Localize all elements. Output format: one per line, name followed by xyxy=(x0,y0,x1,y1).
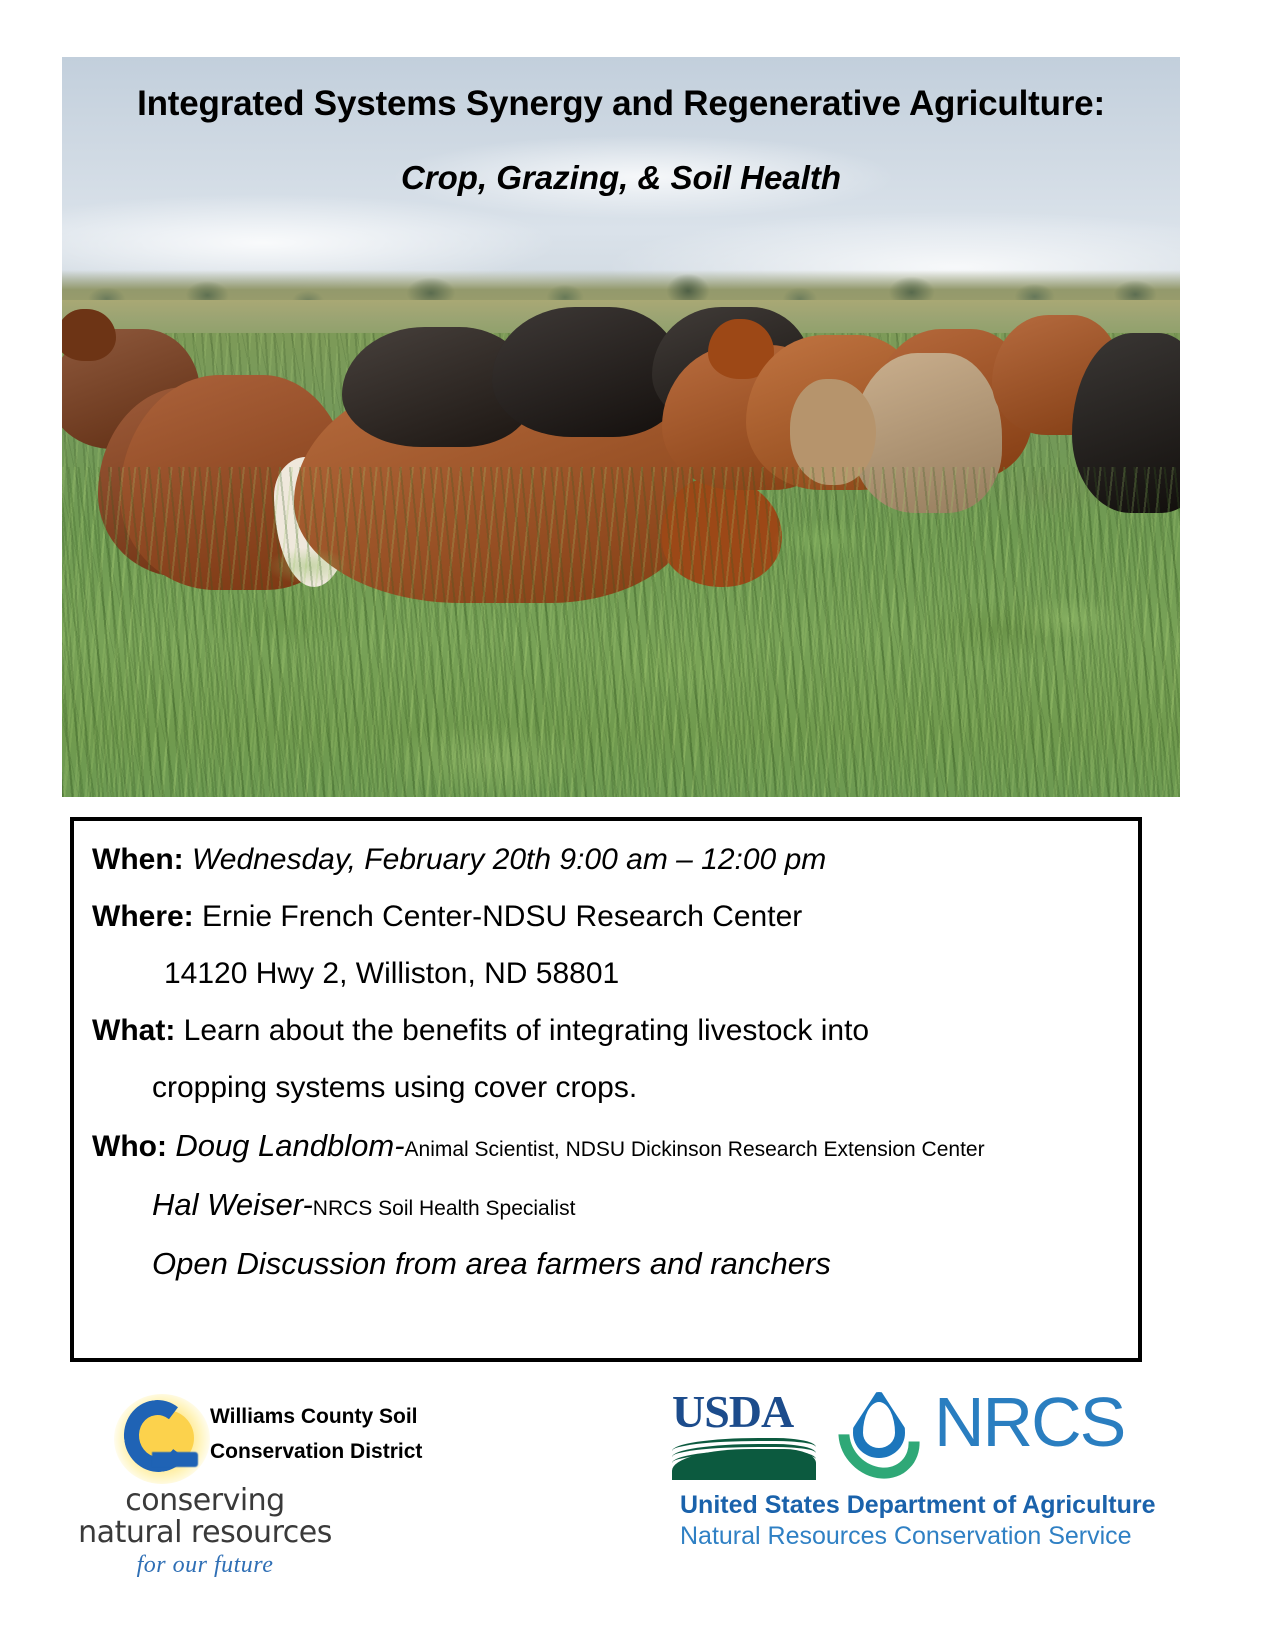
what-value-2: cropping systems using cover crops. xyxy=(152,1071,637,1104)
who-2-name: Hal Weiser- xyxy=(152,1187,313,1222)
who-3-open-discussion: Open Discussion from area farmers and ra… xyxy=(152,1246,831,1281)
who-2-role: NRCS Soil Health Specialist xyxy=(313,1197,576,1220)
where-value: Ernie French Center-NDSU Research Center xyxy=(202,900,802,933)
wcscd-tagline: conserving natural resources for our fut… xyxy=(60,1486,350,1579)
detail-row-what-cont: cropping systems using cover crops. xyxy=(92,1073,1122,1103)
where-label: Where: xyxy=(92,900,194,933)
detail-row-when: When: Wednesday, February 20th 9:00 am –… xyxy=(92,845,1122,875)
cow-head-tan xyxy=(790,379,876,485)
when-value: Wednesday, February 20th 9:00 am – 12:00… xyxy=(192,843,826,876)
where-address: 14120 Hwy 2, Williston, ND 58801 xyxy=(164,957,619,990)
wcscd-title: Williams County Soil Conservation Distri… xyxy=(210,1400,422,1469)
wcscd-title-line-1: Williams County Soil xyxy=(210,1400,422,1435)
tagline-line-2: natural resources xyxy=(60,1518,350,1548)
what-value: Learn about the benefits of integrating … xyxy=(184,1014,869,1047)
detail-row-where: Where: Ernie French Center-NDSU Research… xyxy=(92,902,1122,932)
title-line-1: Integrated Systems Synergy and Regenerat… xyxy=(62,85,1180,124)
nrcs-wordmark: NRCS xyxy=(934,1388,1124,1457)
tagline-line-1: conserving xyxy=(60,1486,350,1516)
nrcs-waterdrop-icon xyxy=(834,1386,926,1478)
when-label: When: xyxy=(92,843,184,876)
title-line-2: Crop, Grazing, & Soil Health xyxy=(62,160,1180,196)
detail-row-who-2: Hal Weiser-NRCS Soil Health Specialist xyxy=(92,1189,1122,1221)
event-details-box: When: Wednesday, February 20th 9:00 am –… xyxy=(70,817,1142,1362)
detail-row-who-1: Who: Doug Landblom-Animal Scientist, NDS… xyxy=(92,1130,1122,1162)
usda-agency-line-1: United States Department of Agriculture xyxy=(680,1490,1220,1521)
detail-row-what: What: Learn about the benefits of integr… xyxy=(92,1016,1122,1046)
usda-field-icon xyxy=(672,1436,816,1480)
detail-row-address: 14120 Hwy 2, Williston, ND 58801 xyxy=(92,959,1122,989)
who-label: Who: xyxy=(92,1130,167,1163)
usda-agency-text: United States Department of Agriculture … xyxy=(680,1490,1220,1551)
usda-wordmark: USDA xyxy=(672,1390,816,1434)
usda-logo: USDA xyxy=(672,1390,816,1476)
what-label: What: xyxy=(92,1014,175,1047)
detail-row-who-3: Open Discussion from area farmers and ra… xyxy=(92,1248,1122,1280)
footer: Williams County Soil Conservation Distri… xyxy=(0,1380,1275,1650)
who-1-name: Doug Landblom- xyxy=(175,1128,404,1163)
who-1-role: Animal Scientist, NDSU Dickinson Researc… xyxy=(405,1138,985,1161)
tagline-line-3: for our future xyxy=(60,1552,350,1579)
logo-blue-bar xyxy=(152,1452,198,1467)
usda-agency-line-2: Natural Resources Conservation Service xyxy=(680,1521,1220,1552)
wcscd-title-line-2: Conservation District xyxy=(210,1435,422,1470)
conserving-c-icon xyxy=(108,1390,218,1488)
page-title: Integrated Systems Synergy and Regenerat… xyxy=(62,85,1180,196)
